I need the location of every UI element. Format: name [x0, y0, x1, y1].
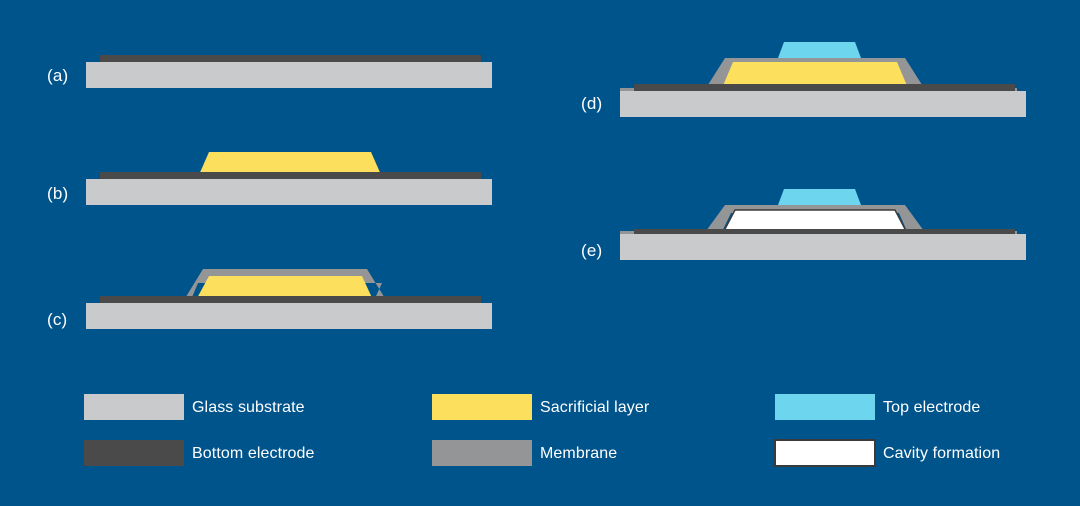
glass-substrate-swatch	[84, 394, 184, 420]
panel-d-top-electrode	[778, 42, 861, 58]
panel-d-glass-substrate	[620, 91, 1026, 117]
legend-item-top-electrode: Top electrode	[775, 394, 980, 420]
panel-b: (b)	[47, 152, 492, 205]
top-electrode-swatch	[775, 394, 875, 420]
legend-item-sacrificial-layer: Sacrificial layer	[432, 394, 650, 420]
panel-e-top-electrode	[778, 189, 861, 205]
membrane-swatch	[432, 440, 532, 466]
panel-a-glass-substrate	[86, 62, 492, 88]
bottom-electrode-label: Bottom electrode	[192, 445, 315, 462]
panel-c: (c)	[47, 269, 492, 329]
legend-item-cavity-formation: Cavity formation	[775, 440, 1000, 466]
cavity-formation-label: Cavity formation	[883, 445, 1000, 462]
sacrificial-layer-label: Sacrificial layer	[540, 399, 650, 416]
panel-e-cavity	[724, 210, 906, 231]
legend-item-glass-substrate: Glass substrate	[84, 394, 305, 420]
legend-item-bottom-electrode: Bottom electrode	[84, 440, 315, 466]
panel-a: (a)	[47, 55, 492, 88]
cavity-formation-swatch	[775, 440, 875, 466]
panel-b-label: (b)	[47, 184, 68, 203]
panel-e-glass-substrate	[620, 234, 1026, 260]
top-electrode-label: Top electrode	[883, 399, 980, 416]
membrane-label: Membrane	[540, 445, 617, 462]
panel-e-label: (e)	[581, 241, 602, 260]
panel-c-label: (c)	[47, 310, 67, 329]
glass-substrate-label: Glass substrate	[192, 399, 305, 416]
panel-b-glass-substrate	[86, 179, 492, 205]
legend-item-membrane: Membrane	[432, 440, 617, 466]
process-flow-figure: (a) (b) (c) (d)	[0, 0, 1080, 506]
panel-c-glass-substrate	[86, 303, 492, 329]
legend: Glass substrate Bottom electrode Sacrifi…	[84, 394, 1000, 466]
panel-e: (e)	[581, 189, 1026, 260]
panel-d: (d)	[581, 42, 1026, 117]
bottom-electrode-swatch	[84, 440, 184, 466]
panel-d-label: (d)	[581, 94, 602, 113]
diagram-canvas: (a) (b) (c) (d)	[0, 0, 1080, 506]
sacrificial-layer-swatch	[432, 394, 532, 420]
panel-a-label: (a)	[47, 66, 68, 85]
